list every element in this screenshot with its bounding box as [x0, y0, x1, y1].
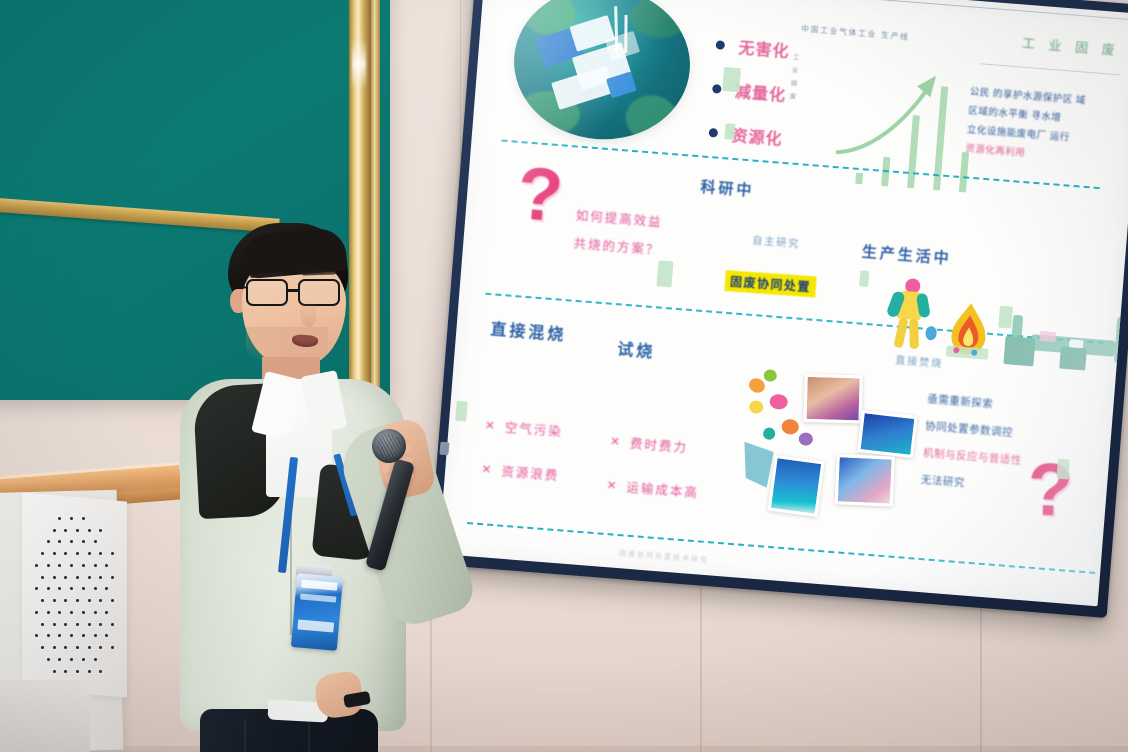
green-marker: [455, 401, 468, 422]
grille-dot: [76, 529, 79, 532]
grille-dot: [47, 634, 50, 637]
worker-illustration: [886, 277, 933, 350]
glasses: [246, 279, 350, 307]
grille-dot: [99, 599, 102, 602]
grille-dot: [64, 552, 67, 555]
grille-dot: [105, 611, 108, 614]
glasses-bridge: [288, 289, 299, 292]
torso: [166, 379, 434, 752]
grille-dot: [70, 658, 73, 661]
question-left-text: 如何提高效益 共烧的方案？: [572, 202, 663, 265]
section-label-research: 科研中: [700, 175, 756, 200]
cross-mark-icon: ✕: [484, 418, 497, 433]
photo-collage: [734, 364, 936, 539]
grille-dot: [76, 552, 79, 555]
grille-dot: [35, 634, 38, 637]
slide-right-heading: ⼯ 业 固 废: [1021, 33, 1120, 60]
grille-dot: [99, 646, 102, 649]
bullet-dot-icon: [709, 127, 719, 137]
grille-dot: [64, 529, 67, 532]
name-badge: [291, 573, 343, 651]
header-direct-mix-burn: 直接混烧: [490, 315, 568, 345]
bullet-label: 减量化: [734, 78, 787, 106]
grille-dot: [64, 576, 67, 579]
grille-dot: [41, 623, 44, 626]
grille-dot: [82, 540, 85, 543]
drawback-item: ✕ 资源浪费: [481, 459, 560, 484]
bullet-dot-icon: [712, 84, 722, 94]
sublabel-self-research: 自主研究: [752, 232, 801, 251]
grille-dot: [58, 517, 61, 520]
highlight-chip: 固废协同处置: [724, 270, 816, 297]
grille-dot: [58, 611, 61, 614]
grille-dot: [58, 540, 61, 543]
grille-dot: [82, 658, 85, 661]
drawback-item: ✕ 费时费力: [609, 431, 688, 456]
grille-dot: [64, 670, 67, 673]
grille-dot: [58, 564, 61, 567]
nose: [300, 301, 316, 327]
grille-dot: [111, 623, 114, 626]
grille-dot: [105, 587, 108, 590]
grille-dot: [70, 540, 73, 543]
flame-illustration: [944, 299, 994, 360]
growth-arrow-icon: [833, 56, 971, 176]
grille-dot: [53, 646, 56, 649]
grille-dot: [99, 552, 102, 555]
glasses-lens: [246, 279, 288, 306]
cross-mark-icon: ✕: [606, 477, 619, 492]
photo-scene: 无害化 减量化 资源化 中国⼯业⽓体⼯业 ⽣产线 ⼯业固废: [0, 0, 1128, 752]
presentation-display[interactable]: 无害化 减量化 资源化 中国⼯业⽓体⼯业 ⽣产线 ⼯业固废: [429, 0, 1128, 618]
grille-dot: [53, 576, 56, 579]
grille-dot: [94, 587, 97, 590]
grille-dot: [76, 646, 79, 649]
grille-dot: [64, 623, 67, 626]
grille-dot: [94, 658, 97, 661]
grille-dot: [70, 564, 73, 567]
grille-dot: [35, 587, 38, 590]
grille-dot: [41, 552, 44, 555]
frame-glint: [352, 38, 366, 90]
grille-dot: [94, 611, 97, 614]
grille-dot: [70, 611, 73, 614]
list-item: 资源化: [708, 120, 784, 150]
grille-dot: [94, 564, 97, 567]
bullet-label: 资源化: [731, 122, 784, 150]
grille-dot: [53, 670, 56, 673]
grille-dot: [58, 634, 61, 637]
grille-dot: [105, 634, 108, 637]
grille-dot: [82, 564, 85, 567]
grille-dot: [88, 646, 91, 649]
right-body-text: 公⺠ 的享护⽔源保护区 域 区域的⽔平衡 寻⽔增 ⽴化设施能废电⼚ 运⾏ 资源化…: [965, 83, 1121, 171]
podium-speaker-grille: [32, 514, 114, 690]
drawback-label: 资源浪费: [501, 461, 560, 485]
grille-dot: [88, 599, 91, 602]
grille-dot: [35, 611, 38, 614]
grille-dot: [47, 658, 50, 661]
grille-dot: [41, 646, 44, 649]
green-marker: [859, 270, 869, 287]
display-panel: 无害化 减量化 资源化 中国⼯业⽓体⼯业 ⽣产线 ⼯业固废: [439, 0, 1128, 606]
grille-dot: [41, 599, 44, 602]
green-marker: [722, 67, 741, 92]
grille-dot: [53, 623, 56, 626]
grille-dot: [111, 599, 114, 602]
drawback-label: 运输成本高: [626, 477, 700, 502]
green-marker: [724, 123, 735, 140]
drawback-label: 空气污染: [504, 417, 563, 441]
header-rule: [784, 0, 1128, 23]
grille-dot: [35, 564, 38, 567]
bullet-dot-icon: [716, 40, 726, 50]
grille-dot: [47, 611, 50, 614]
grille-dot: [58, 658, 61, 661]
grille-dot: [94, 540, 97, 543]
podium-base: [0, 680, 90, 752]
chart-bar: [855, 173, 863, 184]
list-item: 无害化: [715, 32, 791, 62]
grille-dot: [82, 587, 85, 590]
grille-dot: [70, 634, 73, 637]
display-bezel: 无害化 减量化 资源化 中国⼯业⽓体⼯业 ⽣产线 ⼯业固废: [429, 0, 1128, 618]
grille-dot: [88, 623, 91, 626]
grille-dot: [76, 576, 79, 579]
grille-dot: [105, 564, 108, 567]
grille-dot: [76, 623, 79, 626]
grille-dot: [99, 670, 102, 673]
grille-dot: [41, 576, 44, 579]
grille-dot: [76, 670, 79, 673]
aerial-plant-photo: [508, 0, 696, 146]
green-marker: [656, 260, 673, 287]
question-left-line: 共烧的方案？: [572, 230, 661, 265]
drawback-label: 费时费力: [629, 433, 688, 457]
grille-dot: [88, 552, 91, 555]
cross-mark-icon: ✕: [481, 461, 494, 476]
grille-dot: [94, 634, 97, 637]
grille-dot: [111, 552, 114, 555]
cross-mark-icon: ✕: [610, 434, 623, 449]
grille-dot: [70, 587, 73, 590]
green-marker: [1056, 459, 1070, 480]
grille-dot: [82, 634, 85, 637]
slide-content: 无害化 减量化 资源化 中国⼯业⽓体⼯业 ⽣产线 ⼯业固废: [439, 0, 1128, 606]
micro-column-text: ⼯业固废: [789, 52, 799, 104]
grille-dot: [53, 599, 56, 602]
industrial-equipment-illustration: [1003, 314, 1128, 374]
grille-dot: [76, 599, 79, 602]
grille-dot: [64, 646, 67, 649]
grille-dot: [53, 552, 56, 555]
grille-dot: [99, 576, 102, 579]
grille-dot: [64, 599, 67, 602]
grille-dot: [111, 646, 114, 649]
grille-dot: [88, 529, 91, 532]
header-trial-burn: 试烧: [617, 335, 657, 362]
grille-dot: [111, 576, 114, 579]
grille-dot: [99, 529, 102, 532]
drawback-item: ✕ 运输成本高: [606, 475, 700, 501]
drawback-item: ✕ 空气污染: [484, 415, 563, 440]
slide-footer-text: 固废协同处置技术研究: [619, 548, 710, 565]
question-mark-icon: ?: [515, 163, 565, 226]
grille-dot: [99, 623, 102, 626]
grille-dot: [47, 587, 50, 590]
grille-dot: [88, 670, 91, 673]
grille-dot: [47, 564, 50, 567]
presenter: [150, 215, 450, 752]
header-micro-text: 中国⼯业⽓体⼯业 ⽣产线: [801, 23, 910, 43]
grille-dot: [88, 576, 91, 579]
sublabel-direct-burn: 直接焚烧: [895, 351, 944, 370]
slide-bullet-list: 无害化 减量化 资源化: [706, 32, 790, 169]
grille-dot: [58, 587, 61, 590]
divider-bottom: [467, 522, 1095, 574]
grille-dot: [82, 611, 85, 614]
grille-dot: [47, 540, 50, 543]
grille-dot: [70, 517, 73, 520]
grille-dot: [53, 529, 56, 532]
section-label-production: 生产生活中: [861, 240, 952, 268]
bullet-label: 无害化: [738, 34, 791, 62]
grille-dot: [82, 517, 85, 520]
